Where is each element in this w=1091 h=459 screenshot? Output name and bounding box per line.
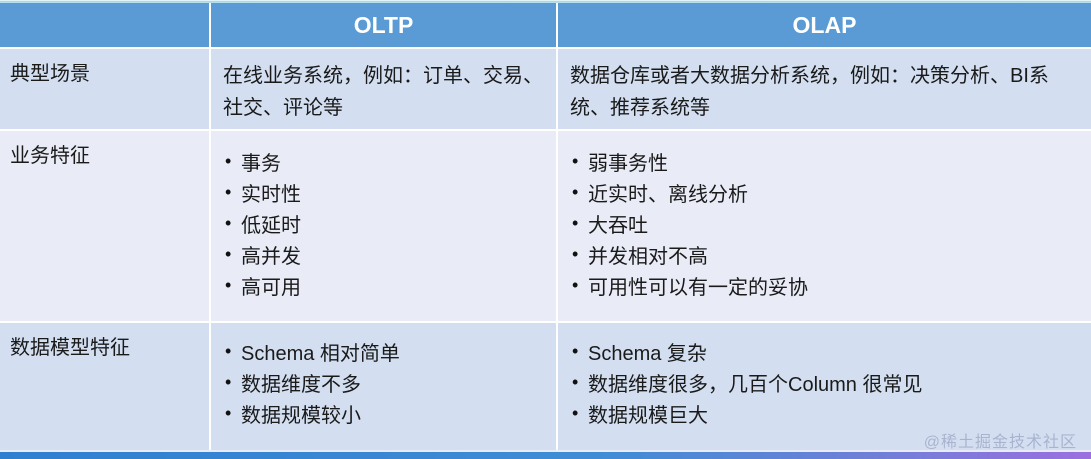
cell-oltp-business-traits: 事务 实时性 低延时 高并发 高可用: [211, 131, 558, 323]
list-item: 实时性: [211, 180, 556, 211]
cell-olap-business-traits: 弱事务性 近实时、离线分析 大吞吐 并发相对不高 可用性可以有一定的妥协: [558, 131, 1091, 323]
list-item: 事务: [211, 149, 556, 180]
oltp-olap-comparison-table: OLTP OLAP 典型场景 在线业务系统，例如：订单、交易、社交、评论等 数据…: [0, 3, 1091, 450]
list-item: 弱事务性: [558, 149, 1091, 180]
bullet-list: 弱事务性 近实时、离线分析 大吞吐 并发相对不高 可用性可以有一定的妥协: [558, 131, 1091, 304]
table-row: 典型场景 在线业务系统，例如：订单、交易、社交、评论等 数据仓库或者大数据分析系…: [0, 49, 1091, 131]
bullet-list: Schema 相对简单 数据维度不多 数据规模较小: [211, 323, 556, 432]
comparison-slide: OLTP OLAP 典型场景 在线业务系统，例如：订单、交易、社交、评论等 数据…: [0, 0, 1091, 459]
list-item: 高可用: [211, 273, 556, 304]
list-item: Schema 复杂: [558, 339, 1091, 370]
row-label-cell-typical-scenario: 典型场景: [0, 49, 211, 131]
header-cell-corner: [0, 3, 211, 49]
row-label-text: 典型场景: [0, 49, 209, 87]
cell-text: 在线业务系统，例如：订单、交易、社交、评论等: [211, 49, 556, 125]
header-cell-olap: OLAP: [558, 3, 1091, 49]
watermark-text: @稀土掘金技术社区: [924, 428, 1077, 452]
list-item: 近实时、离线分析: [558, 180, 1091, 211]
list-item: 并发相对不高: [558, 242, 1091, 273]
list-item: 可用性可以有一定的妥协: [558, 273, 1091, 304]
row-label-text: 业务特征: [0, 131, 209, 169]
table-body: 典型场景 在线业务系统，例如：订单、交易、社交、评论等 数据仓库或者大数据分析系…: [0, 49, 1091, 450]
cell-olap-typical-scenario: 数据仓库或者大数据分析系统，例如：决策分析、BI系统、推荐系统等: [558, 49, 1091, 131]
table-header-row: OLTP OLAP: [0, 3, 1091, 49]
cell-oltp-typical-scenario: 在线业务系统，例如：订单、交易、社交、评论等: [211, 49, 558, 131]
list-item: 数据规模较小: [211, 401, 556, 432]
list-item: 高并发: [211, 242, 556, 273]
cell-text: 数据仓库或者大数据分析系统，例如：决策分析、BI系统、推荐系统等: [558, 49, 1091, 125]
row-label-cell-business-traits: 业务特征: [0, 131, 211, 323]
bottom-accent-bar: [0, 452, 1091, 459]
top-rule-divider: [0, 0, 1091, 3]
list-item: 数据维度很多，几百个Column 很常见: [558, 370, 1091, 401]
header-cell-oltp: OLTP: [211, 3, 558, 49]
list-item: Schema 相对简单: [211, 339, 556, 370]
bullet-list: Schema 复杂 数据维度很多，几百个Column 很常见 数据规模巨大: [558, 323, 1091, 432]
list-item: 大吞吐: [558, 211, 1091, 242]
table-header: OLTP OLAP: [0, 3, 1091, 49]
bullet-list: 事务 实时性 低延时 高并发 高可用: [211, 131, 556, 304]
row-label-cell-data-model-traits: 数据模型特征: [0, 323, 211, 450]
table-row: 业务特征 事务 实时性 低延时 高并发 高可用 弱事务性 近实时、离线分析: [0, 131, 1091, 323]
cell-oltp-data-model-traits: Schema 相对简单 数据维度不多 数据规模较小: [211, 323, 558, 450]
list-item: 数据维度不多: [211, 370, 556, 401]
row-label-text: 数据模型特征: [0, 323, 209, 361]
list-item: 低延时: [211, 211, 556, 242]
